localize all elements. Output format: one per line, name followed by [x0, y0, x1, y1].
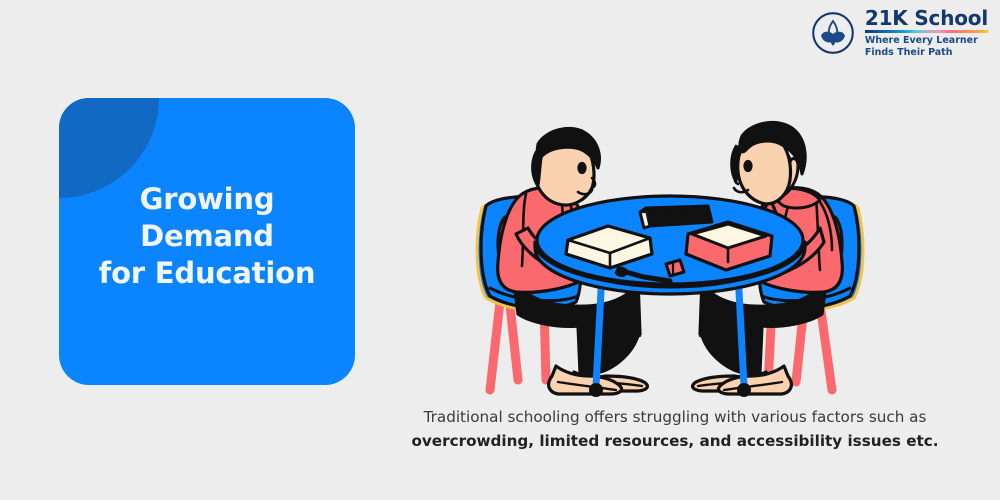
lotus-circle-icon — [810, 10, 856, 56]
students-illustration — [460, 90, 880, 410]
card-title-line2: for Education — [99, 256, 316, 290]
caption-line-1: Traditional schooling offers struggling … — [400, 406, 950, 430]
caption-line-2: overcrowding, limited resources, and acc… — [400, 430, 950, 454]
brand-logo[interactable]: 21K School Where Every Learner Finds The… — [810, 8, 988, 59]
slide-canvas: 21K School Where Every Learner Finds The… — [0, 0, 1000, 500]
page-title: Growing Demand for Education — [59, 181, 355, 292]
logo-tagline: Where Every Learner Finds Their Path — [865, 35, 988, 59]
card-title-line1: Growing Demand — [140, 182, 275, 253]
logo-tagline-line2: Finds Their Path — [865, 47, 953, 58]
headline-card: Growing Demand for Education — [59, 98, 355, 385]
caption-text: Traditional schooling offers struggling … — [400, 406, 950, 453]
eraser — [666, 260, 684, 276]
logo-title: 21K School — [865, 8, 988, 29]
logo-text-block: 21K School Where Every Learner Finds The… — [865, 8, 988, 59]
logo-tagline-line1: Where Every Learner — [865, 35, 978, 46]
logo-gradient-rule — [865, 30, 988, 33]
